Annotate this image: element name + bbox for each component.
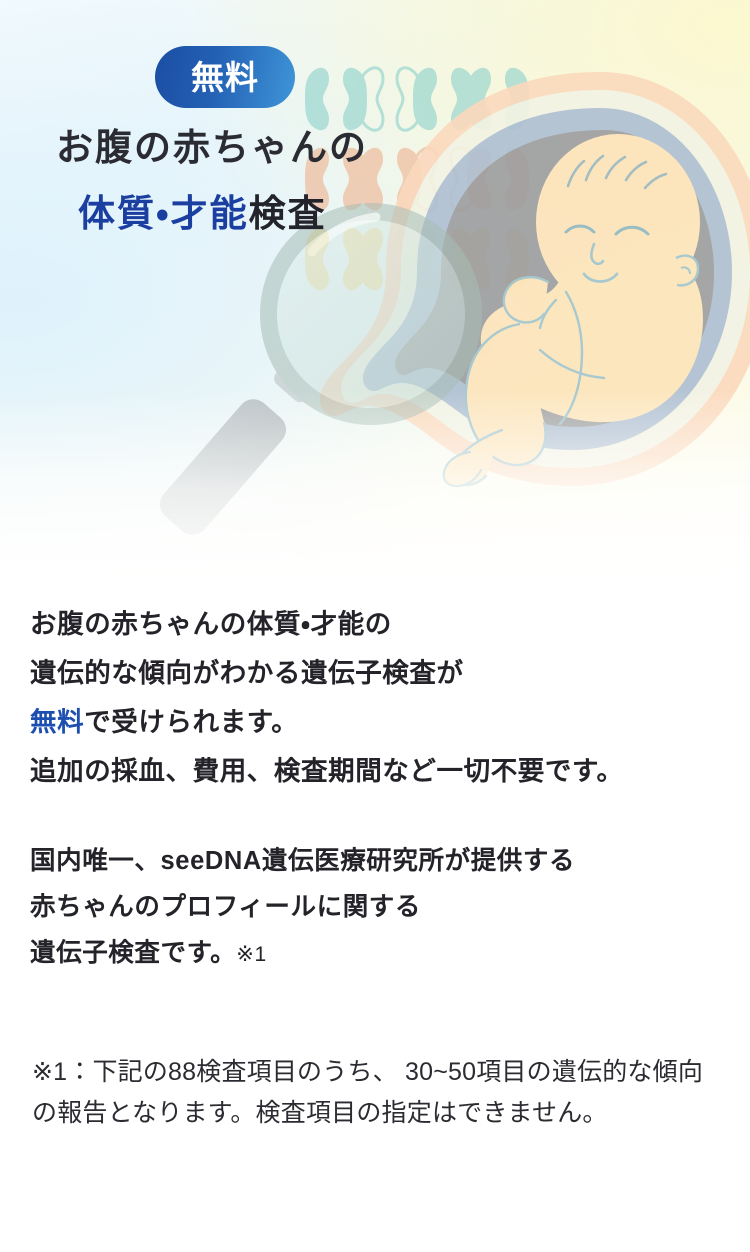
hero-title-line-2: 体質・才能検査 [78, 190, 327, 239]
provider-line-text: 国内唯一、seeDNA遺伝医療研究所が提供する [30, 847, 575, 875]
intro-line: 遺伝的な傾向がわかる遺伝子検査が [30, 649, 730, 698]
provider-line: 遺伝子検査です。※1 [30, 930, 730, 978]
intro-line-text: で受けられます。 [84, 707, 298, 737]
hero-section: 無料 お腹の赤ちゃんの 体質・才能検査 [0, 0, 750, 580]
intro-line-text: 追加の採血、費用、検査期間など一切不要です。 [30, 756, 624, 786]
provider-line-text: 遺伝子検査です。 [30, 939, 236, 967]
free-badge-label: 無料 [191, 61, 259, 94]
provider-line-text: 赤ちゃんのプロフィールに関する [30, 893, 421, 921]
hero-title-text-1: お腹の赤ちゃんの [56, 127, 368, 168]
free-badge: 無料 [155, 46, 295, 108]
intro-line-text: お腹の赤ちゃんの体質・才能の [30, 609, 392, 639]
hero-bottom-fade [0, 390, 750, 580]
intro-line: 追加の採血、費用、検査期間など一切不要です。 [30, 747, 730, 796]
promo-page: 無料 お腹の赤ちゃんの 体質・才能検査 お腹の赤ちゃんの体質・才能の 遺伝的な傾… [0, 0, 750, 1252]
intro-line-text: 遺伝的な傾向がわかる遺伝子検査が [30, 658, 464, 688]
footnote-reference-mark: ※1 [236, 943, 266, 966]
intro-paragraph: お腹の赤ちゃんの体質・才能の 遺伝的な傾向がわかる遺伝子検査が 無料で受けられま… [30, 600, 730, 796]
provider-line: 赤ちゃんのプロフィールに関する [30, 884, 730, 930]
intro-line-accent: 無料 [30, 707, 84, 737]
hero-title-plain: 検査 [249, 193, 327, 234]
hero-title-line-1: お腹の赤ちゃんの [56, 124, 368, 173]
provider-paragraph: 国内唯一、seeDNA遺伝医療研究所が提供する 赤ちゃんのプロフィールに関する … [30, 838, 730, 978]
intro-line: お腹の赤ちゃんの体質・才能の [30, 600, 730, 649]
hero-title-accent: 体質・才能 [78, 193, 249, 234]
provider-line: 国内唯一、seeDNA遺伝医療研究所が提供する [30, 838, 730, 884]
intro-line: 無料で受けられます。 [30, 698, 730, 747]
footnote-text: ※1：下記の88検査項目のうち、 30~50項目の遺伝的な傾向の報告となります。… [32, 1052, 722, 1134]
